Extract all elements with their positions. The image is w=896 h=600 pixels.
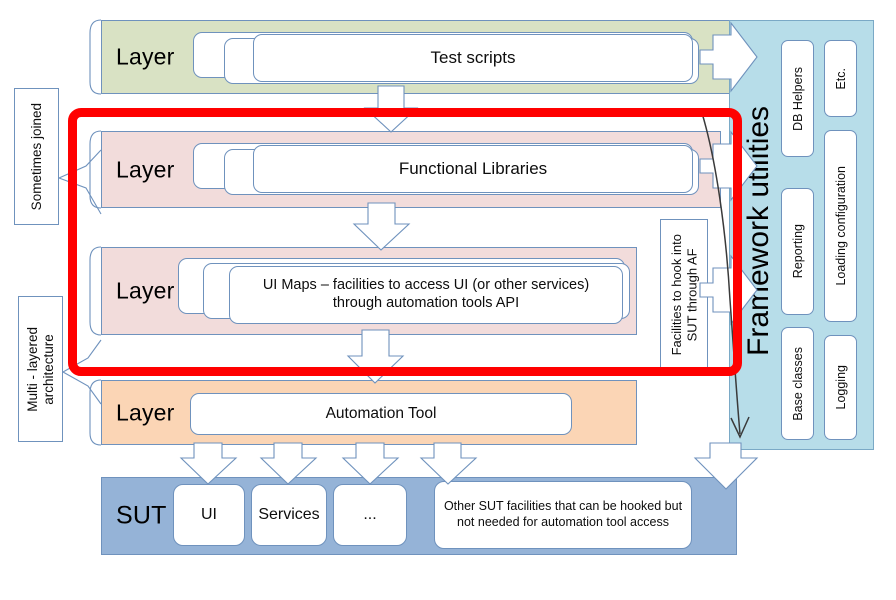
down-arrow-sut-2 — [261, 443, 316, 484]
band3-left-curve — [90, 247, 101, 335]
down-arrow-3 — [348, 330, 403, 383]
band4-left-curve — [90, 380, 101, 445]
down-arrow-1 — [365, 86, 417, 132]
down-arrow-sut-1 — [181, 443, 236, 484]
right-arrow-layer-2 — [700, 132, 757, 200]
band1-left-curve — [90, 20, 101, 94]
diagram-canvas: Sometimes joined Multi - layered archite… — [0, 0, 896, 600]
right-arrow-layer-1 — [700, 23, 757, 91]
down-arrow-sut-3 — [343, 443, 398, 484]
band2-left-curve — [90, 131, 101, 208]
connector-overlay — [0, 0, 896, 600]
down-arrow-fw-to-sut — [695, 443, 757, 489]
down-arrow-2 — [354, 203, 409, 250]
leader-multi-layered-1 — [63, 340, 101, 372]
leader-sometimes-joined-2 — [59, 178, 101, 214]
leader-multi-layered-2 — [63, 372, 101, 404]
right-arrow-layer-3 — [700, 256, 757, 324]
down-arrow-sut-4 — [421, 443, 476, 484]
leader-sometimes-joined — [59, 150, 101, 178]
